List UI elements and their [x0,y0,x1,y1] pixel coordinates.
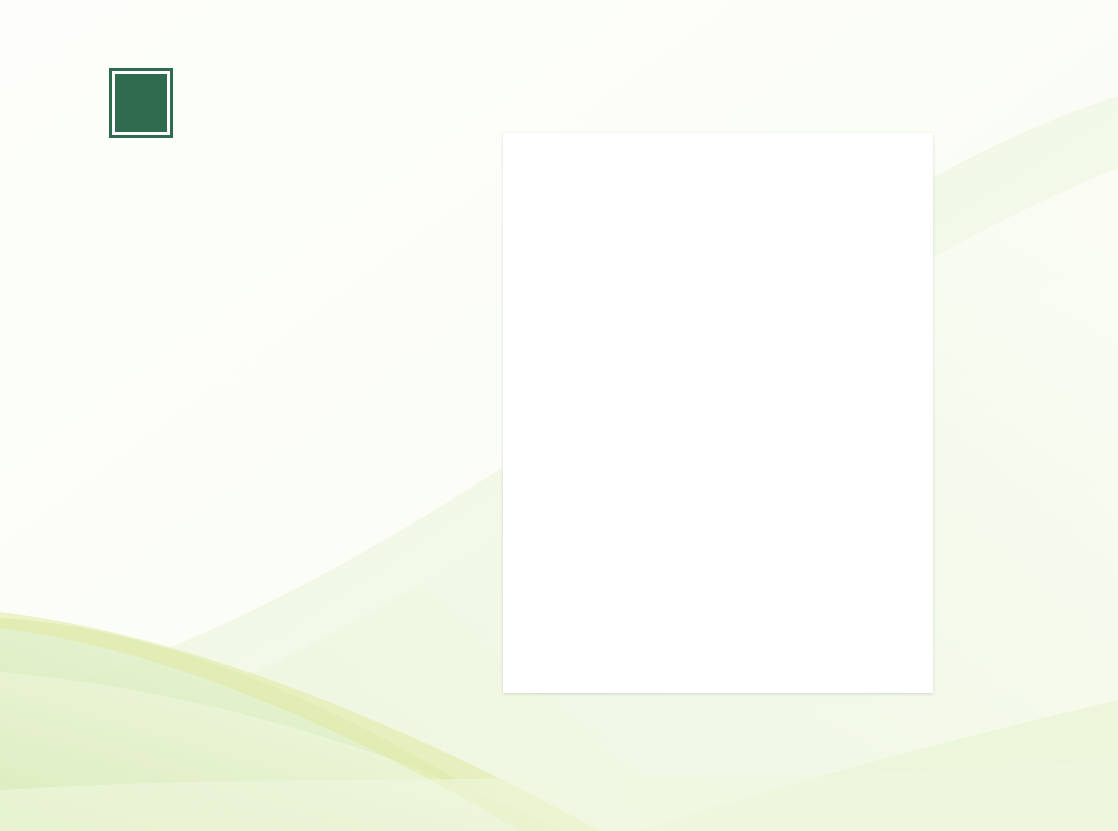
photo-collage-frame [503,133,933,693]
slide-canvas [0,0,1118,831]
company-logo-mark [109,68,173,138]
brand-logo-block [109,68,187,138]
photo-collage [508,138,928,688]
